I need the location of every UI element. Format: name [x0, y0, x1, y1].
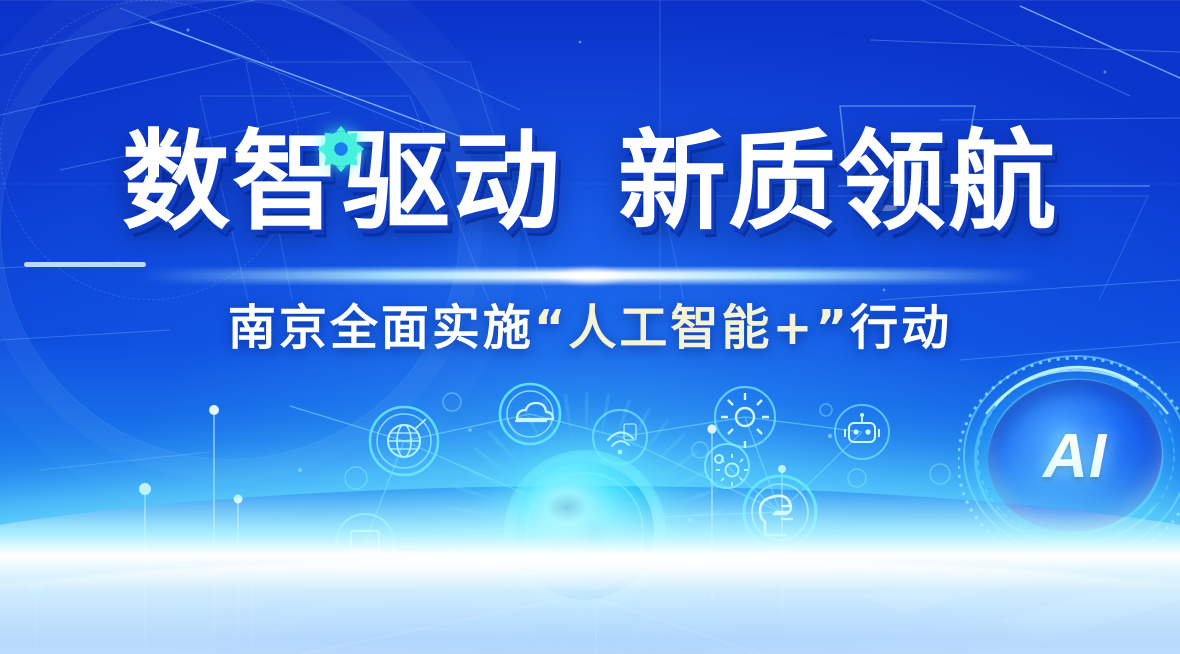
headline-phrase-1: 数智驱动 [122, 128, 562, 238]
globe-network-icon [370, 407, 438, 475]
subtitle-quoted: “人工智能+” [534, 300, 850, 356]
headline-row: 数智驱动 新质领航 [0, 128, 1180, 238]
subtitle-tail: 行动 [850, 300, 952, 356]
horizon-highlight-line [0, 556, 1180, 654]
headline-phrase-2: 新质领航 [618, 128, 1058, 238]
subtitle-lead: 南京全面实施 [228, 300, 534, 356]
subtitle: 南京全面实施“人工智能+”行动 [0, 288, 1180, 358]
ai-badge-label: AI [1043, 421, 1107, 492]
poster-canvas: AI 数智驱动 新质领航 [0, 0, 1180, 654]
headline-phrase-2-text: 新质领航 [618, 120, 1058, 245]
gear-icon [314, 122, 368, 176]
